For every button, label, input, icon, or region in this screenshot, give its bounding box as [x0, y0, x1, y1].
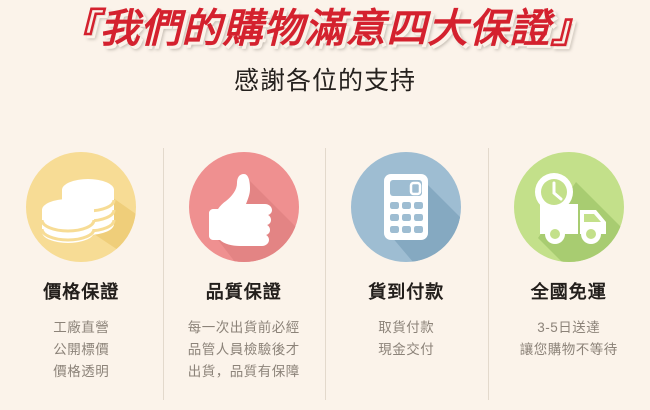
list-item: 3-5日送達 [520, 317, 618, 339]
column-lines: 取貨付款 現金交付 [378, 317, 434, 361]
column-heading: 價格保證 [43, 278, 119, 304]
column-lines: 3-5日送達 讓您購物不等待 [520, 317, 618, 361]
column-lines: 工廠直營 公開標價 價格透明 [53, 317, 109, 383]
column-lines: 每一次出貨前必經 品管人員檢驗後才 出貨，品質有保障 [188, 317, 300, 383]
calculator-icon [351, 152, 461, 262]
list-item: 價格透明 [53, 361, 109, 383]
guarantee-columns: 價格保證 工廠直營 公開標價 價格透明 品質保證 每一次出貨前必經 品管人員檢驗… [0, 140, 650, 402]
column-heading: 全國免運 [531, 278, 607, 304]
list-item: 每一次出貨前必經 [188, 317, 300, 339]
list-item: 工廠直營 [53, 317, 109, 339]
promo-banner: 『我們的購物滿意四大保證』 感謝各位的支持 [0, 0, 650, 410]
page-title: 『我們的購物滿意四大保證』 [0, 6, 650, 52]
list-item: 現金交付 [378, 339, 434, 361]
guarantee-column-quality: 品質保證 每一次出貨前必經 品管人員檢驗後才 出貨，品質有保障 [163, 140, 326, 402]
list-item: 品管人員檢驗後才 [188, 339, 300, 361]
column-heading: 貨到付款 [368, 278, 444, 304]
guarantee-column-price: 價格保證 工廠直營 公開標價 價格透明 [0, 140, 163, 402]
column-heading: 品質保證 [206, 278, 282, 304]
page-subtitle: 感謝各位的支持 [0, 61, 650, 97]
thumbs-up-icon [189, 152, 299, 262]
list-item: 公開標價 [53, 339, 109, 361]
banner-header: 『我們的購物滿意四大保證』 感謝各位的支持 [0, 0, 650, 97]
guarantee-column-shipping: 全國免運 3-5日送達 讓您購物不等待 [488, 140, 650, 402]
guarantee-column-cod: 貨到付款 取貨付款 現金交付 [325, 140, 488, 402]
coins-icon [26, 152, 136, 262]
list-item: 讓您購物不等待 [520, 339, 618, 361]
list-item: 出貨，品質有保障 [188, 361, 300, 383]
delivery-truck-clock-icon [514, 152, 624, 262]
list-item: 取貨付款 [378, 317, 434, 339]
